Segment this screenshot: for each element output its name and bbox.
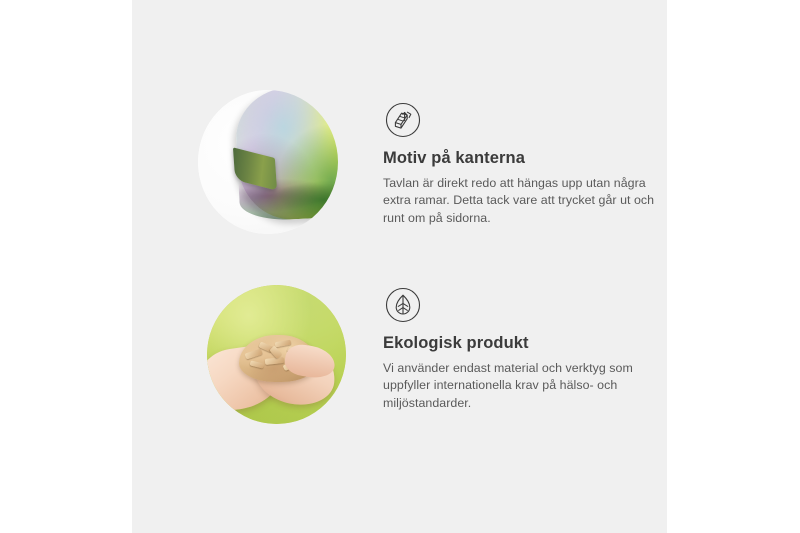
feature-image-canvas-print [198,90,338,234]
feature-description: Vi använder endast material och verktyg … [383,360,655,413]
content-panel: Motiv på kanterna Tavlan är direkt redo … [132,0,667,533]
promo-banner: Motiv på kanterna Tavlan är direkt redo … [0,0,800,533]
feature-text-column: Ekologisk produkt Vi använder endast mat… [383,285,655,413]
feature-description: Tavlan är direkt redo att hängas upp uta… [383,175,655,228]
feature-text-column: Motiv på kanterna Tavlan är direkt redo … [383,100,655,228]
leaf-icon [383,285,423,325]
feature-title: Ekologisk produkt [383,334,655,354]
wood-chip [245,349,263,360]
canvas-wrapped-edge-icon [383,100,423,140]
feature-block-edges: Motiv på kanterna Tavlan är direkt redo … [132,75,667,250]
feature-title: Motiv på kanterna [383,149,655,169]
feature-block-eco: Ekologisk produkt Vi använder endast mat… [132,270,667,445]
feature-image-wood-chips [207,285,346,424]
wood-chip [249,361,264,369]
wood-chip [265,357,284,365]
